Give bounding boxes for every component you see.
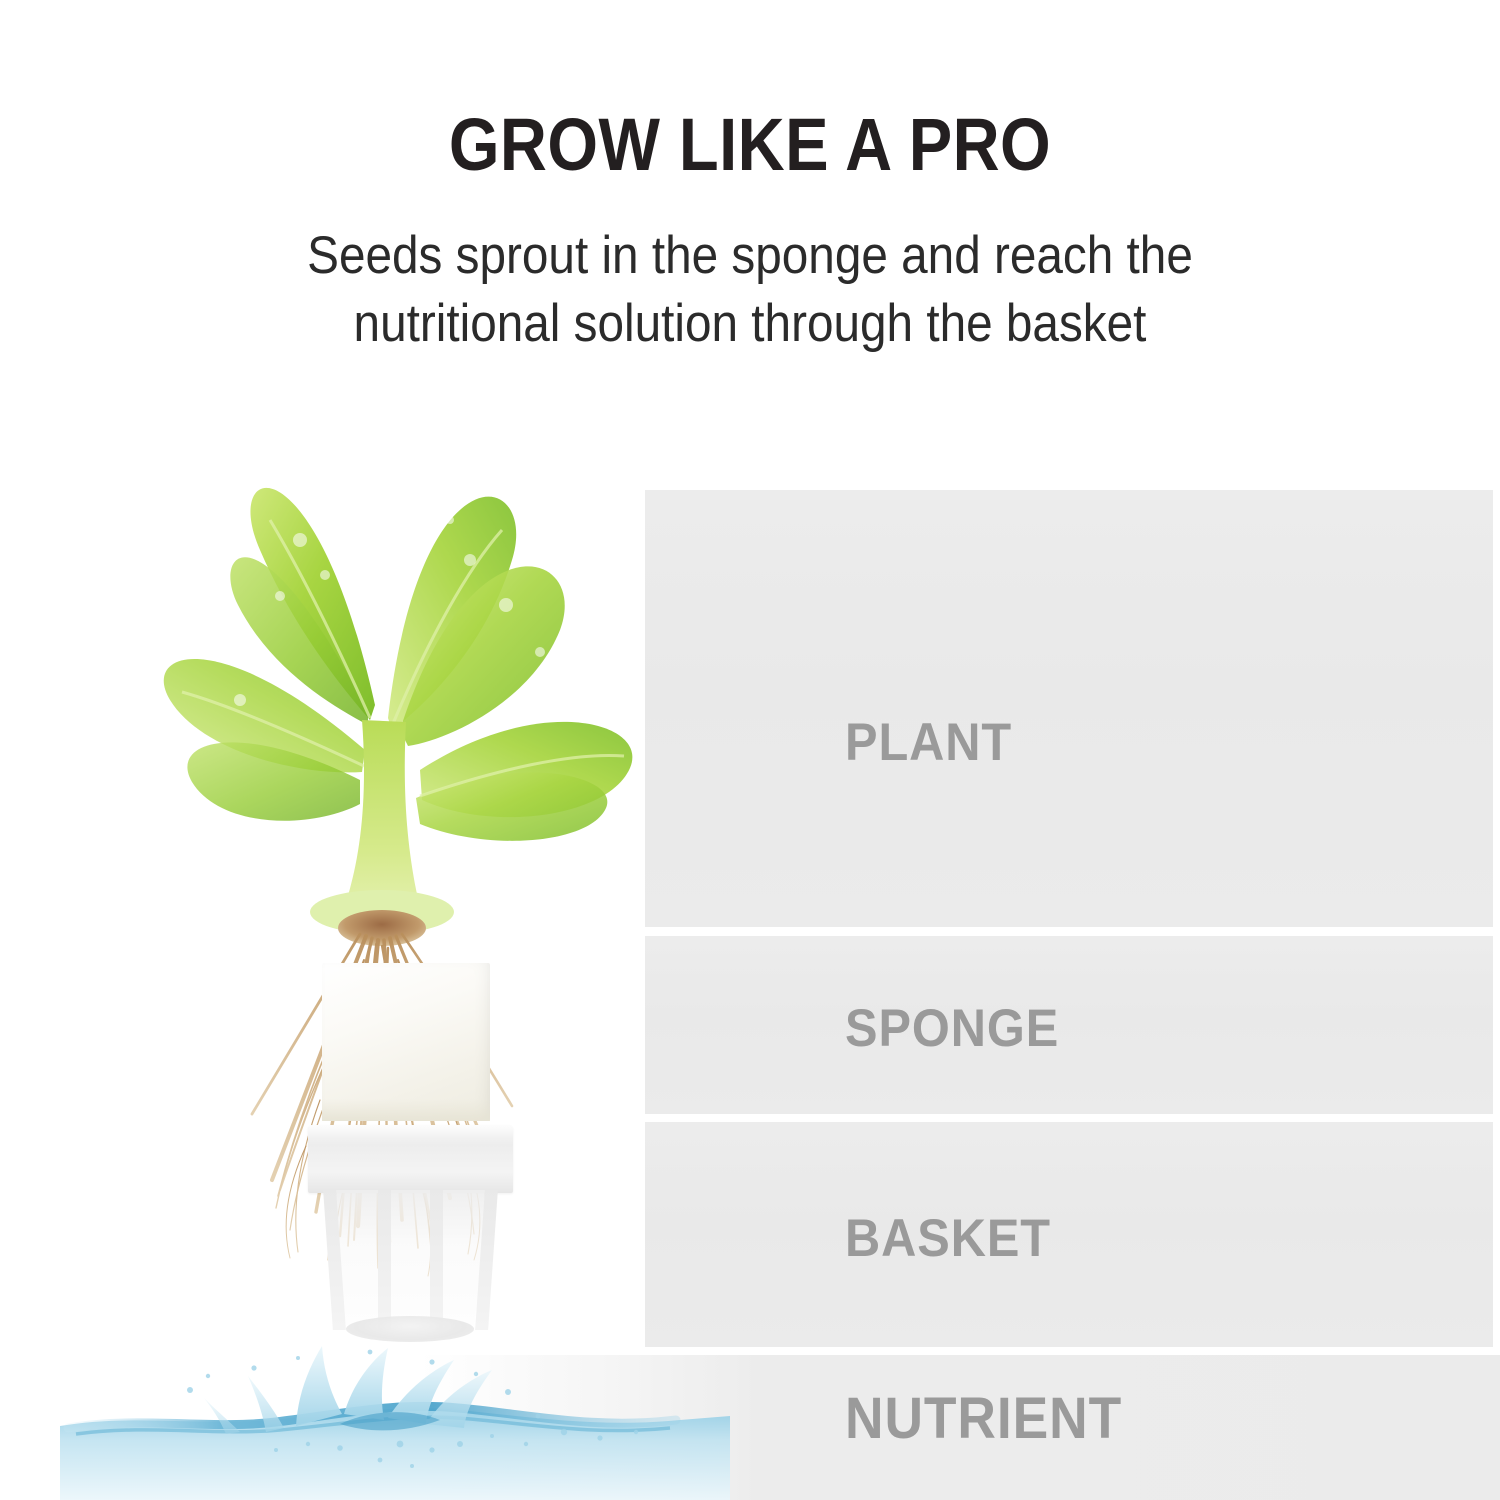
band-sponge xyxy=(645,936,1493,1114)
band-basket xyxy=(645,1122,1493,1347)
band-label-basket: BASKET xyxy=(845,1208,1051,1269)
basket-rim xyxy=(308,1125,513,1193)
water-splash xyxy=(40,1340,740,1500)
band-label-sponge: SPONGE xyxy=(845,998,1059,1059)
sponge-cube xyxy=(322,963,490,1121)
basket-net-pot xyxy=(300,1120,520,1360)
band-label-nutrient: NUTRIENT xyxy=(845,1385,1122,1452)
basket-base xyxy=(346,1316,474,1342)
page-title: GROW LIKE A PRO xyxy=(90,108,1410,182)
page-subtitle-line-1: Seeds sprout in the sponge and reach the xyxy=(75,222,1425,290)
basket-body xyxy=(326,1190,494,1325)
page-subtitle: Seeds sprout in the sponge and reach the… xyxy=(75,222,1425,358)
band-plant xyxy=(645,490,1493,927)
infographic-page: GROW LIKE A PRO Seeds sprout in the spon… xyxy=(0,0,1500,1500)
basket-slat xyxy=(430,1190,443,1330)
basket-slat xyxy=(378,1190,391,1330)
band-label-plant: PLANT xyxy=(845,712,1012,773)
page-subtitle-line-2: nutritional solution through the basket xyxy=(75,290,1425,358)
